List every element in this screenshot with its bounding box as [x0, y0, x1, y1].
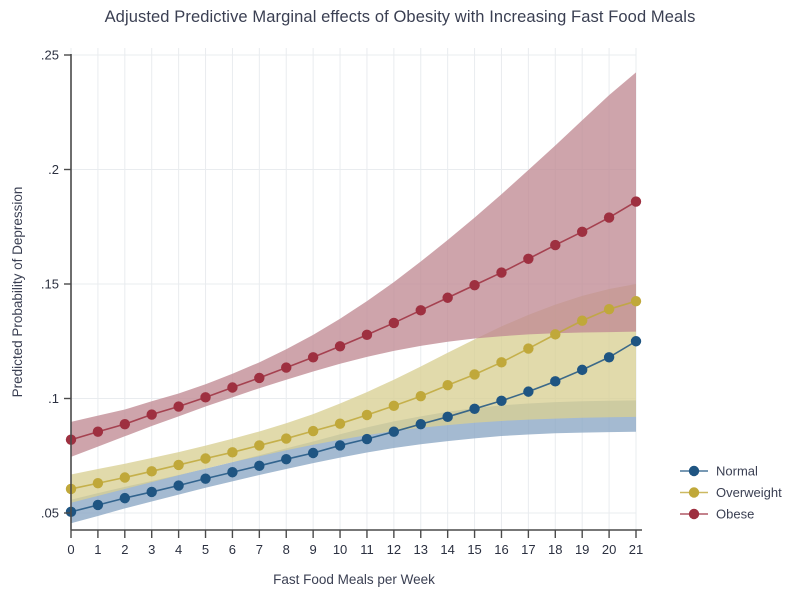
y-tick-label: .1	[48, 391, 59, 406]
y-tick-label: .2	[48, 162, 59, 177]
y-axis-ticks: .05.1.15.2.25	[41, 48, 71, 521]
chart-plot: .05.1.15.2.25 01234567891011121314151617…	[0, 0, 800, 593]
data-point-overweight	[227, 447, 237, 457]
x-tick-label: 2	[121, 542, 128, 557]
x-tick-label: 6	[229, 542, 236, 557]
data-point-overweight	[147, 466, 157, 476]
data-point-overweight	[254, 440, 264, 450]
legend-label: Overweight	[716, 485, 782, 500]
legend-marker-obese	[689, 509, 699, 519]
data-point-normal	[631, 336, 641, 346]
data-point-normal	[550, 376, 560, 386]
data-point-normal	[362, 434, 372, 444]
y-tick-label: .25	[41, 48, 59, 63]
data-point-overweight	[523, 343, 533, 353]
y-axis-title: Predicted Probability of Depression	[10, 187, 25, 398]
data-point-overweight	[577, 315, 587, 325]
legend-label: Obese	[716, 507, 754, 522]
data-point-overweight	[496, 357, 506, 367]
data-point-obese	[577, 227, 587, 237]
data-point-normal	[308, 448, 318, 458]
x-tick-label: 1	[94, 542, 101, 557]
data-point-obese	[550, 240, 560, 250]
data-point-overweight	[416, 391, 426, 401]
data-point-normal	[496, 396, 506, 406]
data-point-obese	[416, 305, 426, 315]
data-point-overweight	[281, 433, 291, 443]
data-point-normal	[469, 404, 479, 414]
data-point-obese	[362, 330, 372, 340]
x-axis-title: Fast Food Meals per Week	[273, 572, 435, 587]
data-point-obese	[200, 392, 210, 402]
x-axis-ticks: 0123456789101112131415161718192021	[67, 530, 643, 557]
x-tick-label: 14	[440, 542, 454, 557]
data-point-overweight	[335, 418, 345, 428]
x-tick-label: 18	[548, 542, 562, 557]
data-point-normal	[173, 480, 183, 490]
data-point-normal	[227, 467, 237, 477]
data-point-obese	[254, 373, 264, 383]
data-point-normal	[93, 500, 103, 510]
data-point-normal	[254, 461, 264, 471]
data-point-overweight	[93, 478, 103, 488]
data-point-obese	[389, 318, 399, 328]
x-tick-label: 16	[494, 542, 508, 557]
data-point-overweight	[389, 401, 399, 411]
data-point-overweight	[362, 410, 372, 420]
data-point-obese	[93, 427, 103, 437]
x-tick-label: 3	[148, 542, 155, 557]
chart-legend: NormalOverweightObese	[680, 464, 782, 522]
data-point-overweight	[200, 453, 210, 463]
x-tick-label: 15	[467, 542, 481, 557]
confidence-bands	[71, 72, 636, 523]
x-tick-label: 0	[67, 542, 74, 557]
data-point-obese	[631, 196, 641, 206]
data-point-obese	[469, 280, 479, 290]
data-point-overweight	[550, 329, 560, 339]
data-point-normal	[200, 473, 210, 483]
data-point-normal	[147, 487, 157, 497]
x-tick-label: 12	[387, 542, 401, 557]
data-point-obese	[604, 212, 614, 222]
x-tick-label: 19	[575, 542, 589, 557]
x-tick-label: 17	[521, 542, 535, 557]
y-tick-label: .15	[41, 277, 59, 292]
plot-area-wrapper: .05.1.15.2.25 01234567891011121314151617…	[0, 0, 800, 593]
data-point-overweight	[442, 380, 452, 390]
data-point-normal	[416, 419, 426, 429]
data-point-overweight	[631, 296, 641, 306]
data-point-obese	[523, 254, 533, 264]
data-point-obese	[335, 341, 345, 351]
x-tick-label: 11	[360, 542, 374, 557]
x-tick-label: 4	[175, 542, 182, 557]
x-tick-label: 9	[310, 542, 317, 557]
data-point-overweight	[469, 369, 479, 379]
data-point-normal	[442, 412, 452, 422]
x-tick-label: 20	[602, 542, 616, 557]
data-point-obese	[308, 352, 318, 362]
data-point-normal	[577, 365, 587, 375]
data-point-overweight	[604, 304, 614, 314]
y-tick-label: .05	[41, 506, 59, 521]
data-point-obese	[120, 419, 130, 429]
data-point-normal	[389, 427, 399, 437]
data-point-normal	[281, 454, 291, 464]
legend-item-normal[interactable]: Normal	[680, 464, 758, 479]
legend-marker-overweight	[689, 487, 699, 497]
legend-item-overweight[interactable]: Overweight	[680, 485, 782, 500]
data-point-obese	[496, 267, 506, 277]
data-point-obese	[281, 362, 291, 372]
data-point-obese	[173, 401, 183, 411]
data-point-normal	[335, 440, 345, 450]
x-tick-label: 7	[256, 542, 263, 557]
x-tick-label: 21	[629, 542, 643, 557]
x-tick-label: 8	[283, 542, 290, 557]
legend-item-obese[interactable]: Obese	[680, 507, 754, 522]
x-tick-label: 5	[202, 542, 209, 557]
chart-figure: Adjusted Predictive Marginal effects of …	[0, 0, 800, 593]
data-point-obese	[147, 409, 157, 419]
data-point-overweight	[120, 472, 130, 482]
x-tick-label: 10	[333, 542, 347, 557]
data-point-normal	[523, 386, 533, 396]
legend-label: Normal	[716, 464, 758, 479]
data-point-normal	[120, 493, 130, 503]
data-point-overweight	[308, 426, 318, 436]
data-point-normal	[604, 352, 614, 362]
data-point-obese	[227, 382, 237, 392]
legend-marker-normal	[689, 466, 699, 476]
x-tick-label: 13	[414, 542, 428, 557]
data-point-obese	[442, 293, 452, 303]
data-point-overweight	[173, 460, 183, 470]
